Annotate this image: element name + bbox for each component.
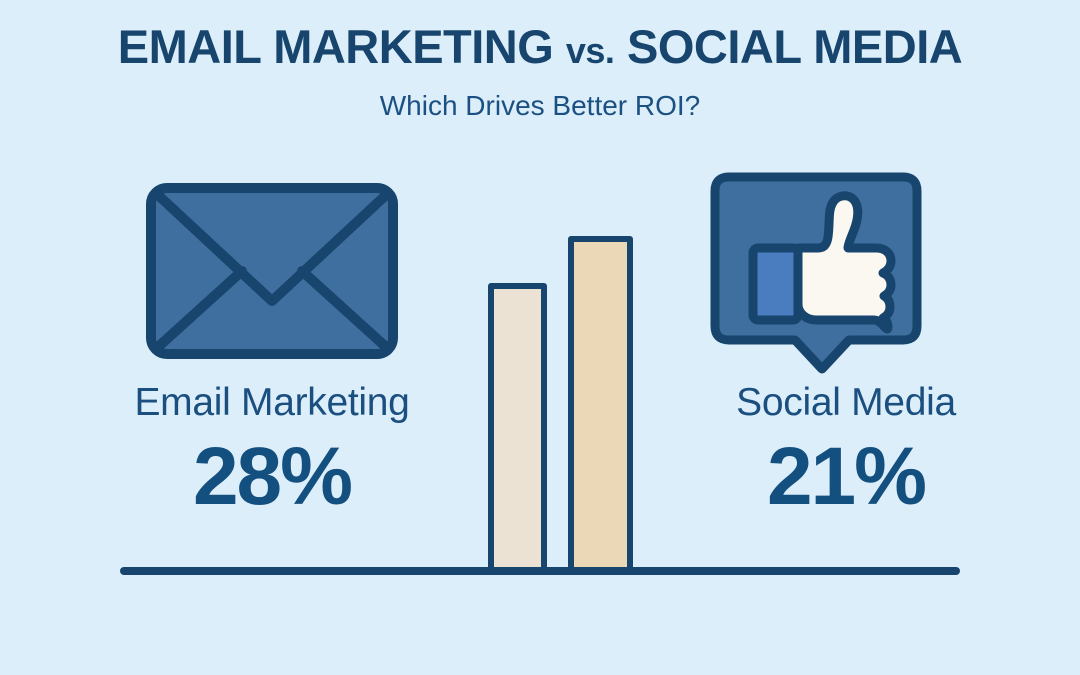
bar-social-media <box>568 236 633 573</box>
stat-label-social-media: Social Media <box>664 383 1028 422</box>
thumbs-up-icon <box>708 170 924 376</box>
stat-label-email-marketing: Email Marketing <box>76 383 468 422</box>
title-part-one: EMAIL MARKETING <box>118 20 554 73</box>
envelope-icon <box>146 183 398 359</box>
stat-value-social-media: 21% <box>664 436 1028 518</box>
stat-block-social-media: Social Media 21% <box>664 383 1028 518</box>
chart-baseline <box>120 567 960 575</box>
title-part-two: SOCIAL MEDIA <box>627 20 962 73</box>
infographic-canvas: EMAIL MARKETING vs. SOCIAL MEDIA Which D… <box>0 0 1080 675</box>
page-subtitle: Which Drives Better ROI? <box>0 90 1080 122</box>
stat-value-email-marketing: 28% <box>76 436 468 518</box>
stat-block-email-marketing: Email Marketing 28% <box>76 383 468 518</box>
bar-email-marketing <box>488 283 547 573</box>
page-title: EMAIL MARKETING vs. SOCIAL MEDIA <box>0 22 1080 73</box>
title-versus: vs. <box>566 30 615 71</box>
